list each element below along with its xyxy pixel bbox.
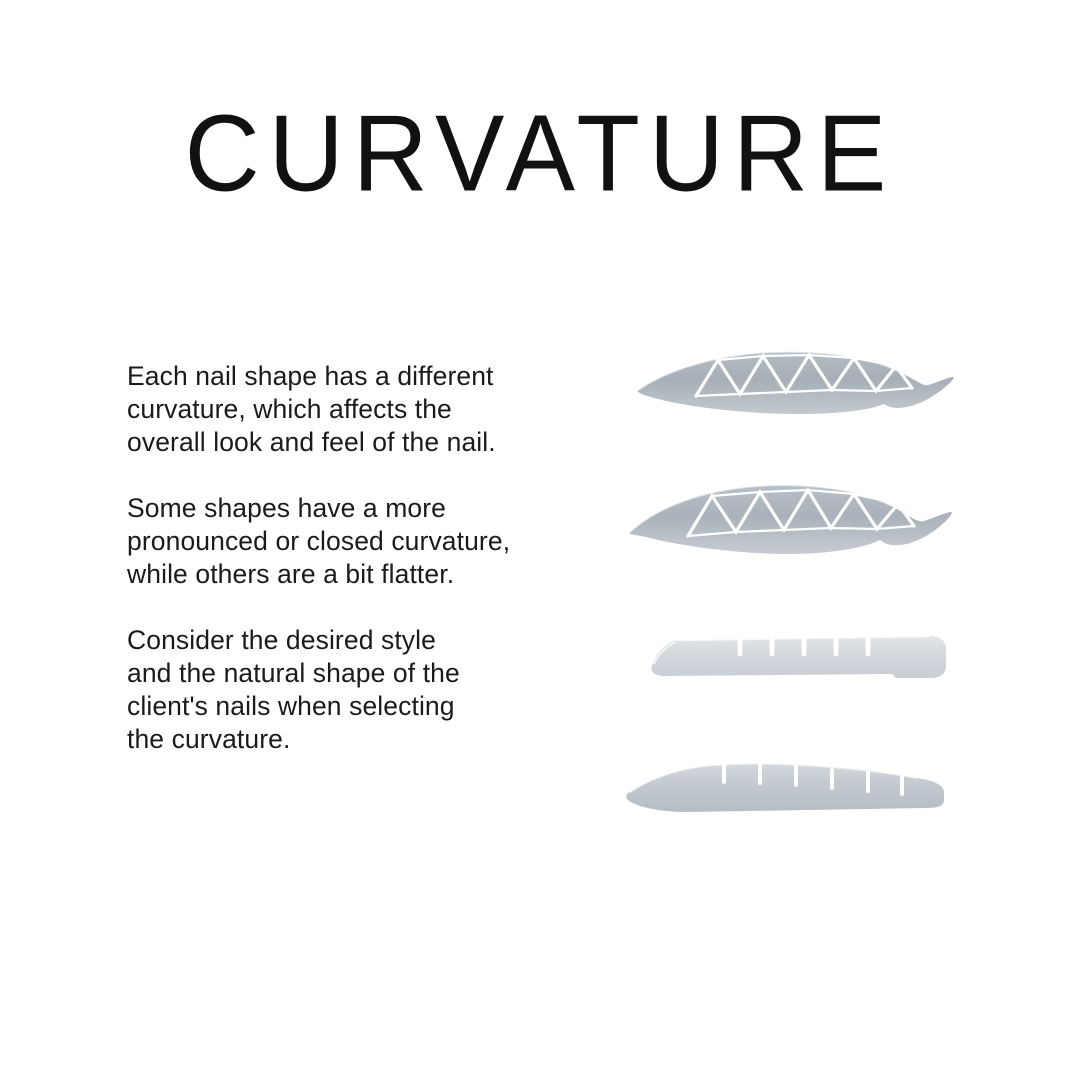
paragraph-3: Consider the desired style and the natur… [127, 624, 597, 756]
nail-tip-flat-1-icon [600, 608, 1000, 698]
slide-canvas: CURVATURE Each nail shape has a differen… [0, 0, 1080, 1080]
nail-tip-deep-curve-2-icon [600, 472, 1000, 562]
nail-tip-illustration-group [600, 320, 1000, 860]
nail-tip-deep-curve-1-icon [600, 338, 1000, 428]
page-title: CURVATURE [0, 98, 1080, 212]
paragraph-2: Some shapes have a more pronounced or cl… [127, 492, 597, 591]
body-copy: Each nail shape has a different curvatur… [127, 360, 597, 756]
nail-tip-slanted-wedge-icon [600, 748, 1000, 838]
paragraph-1: Each nail shape has a different curvatur… [127, 360, 597, 459]
